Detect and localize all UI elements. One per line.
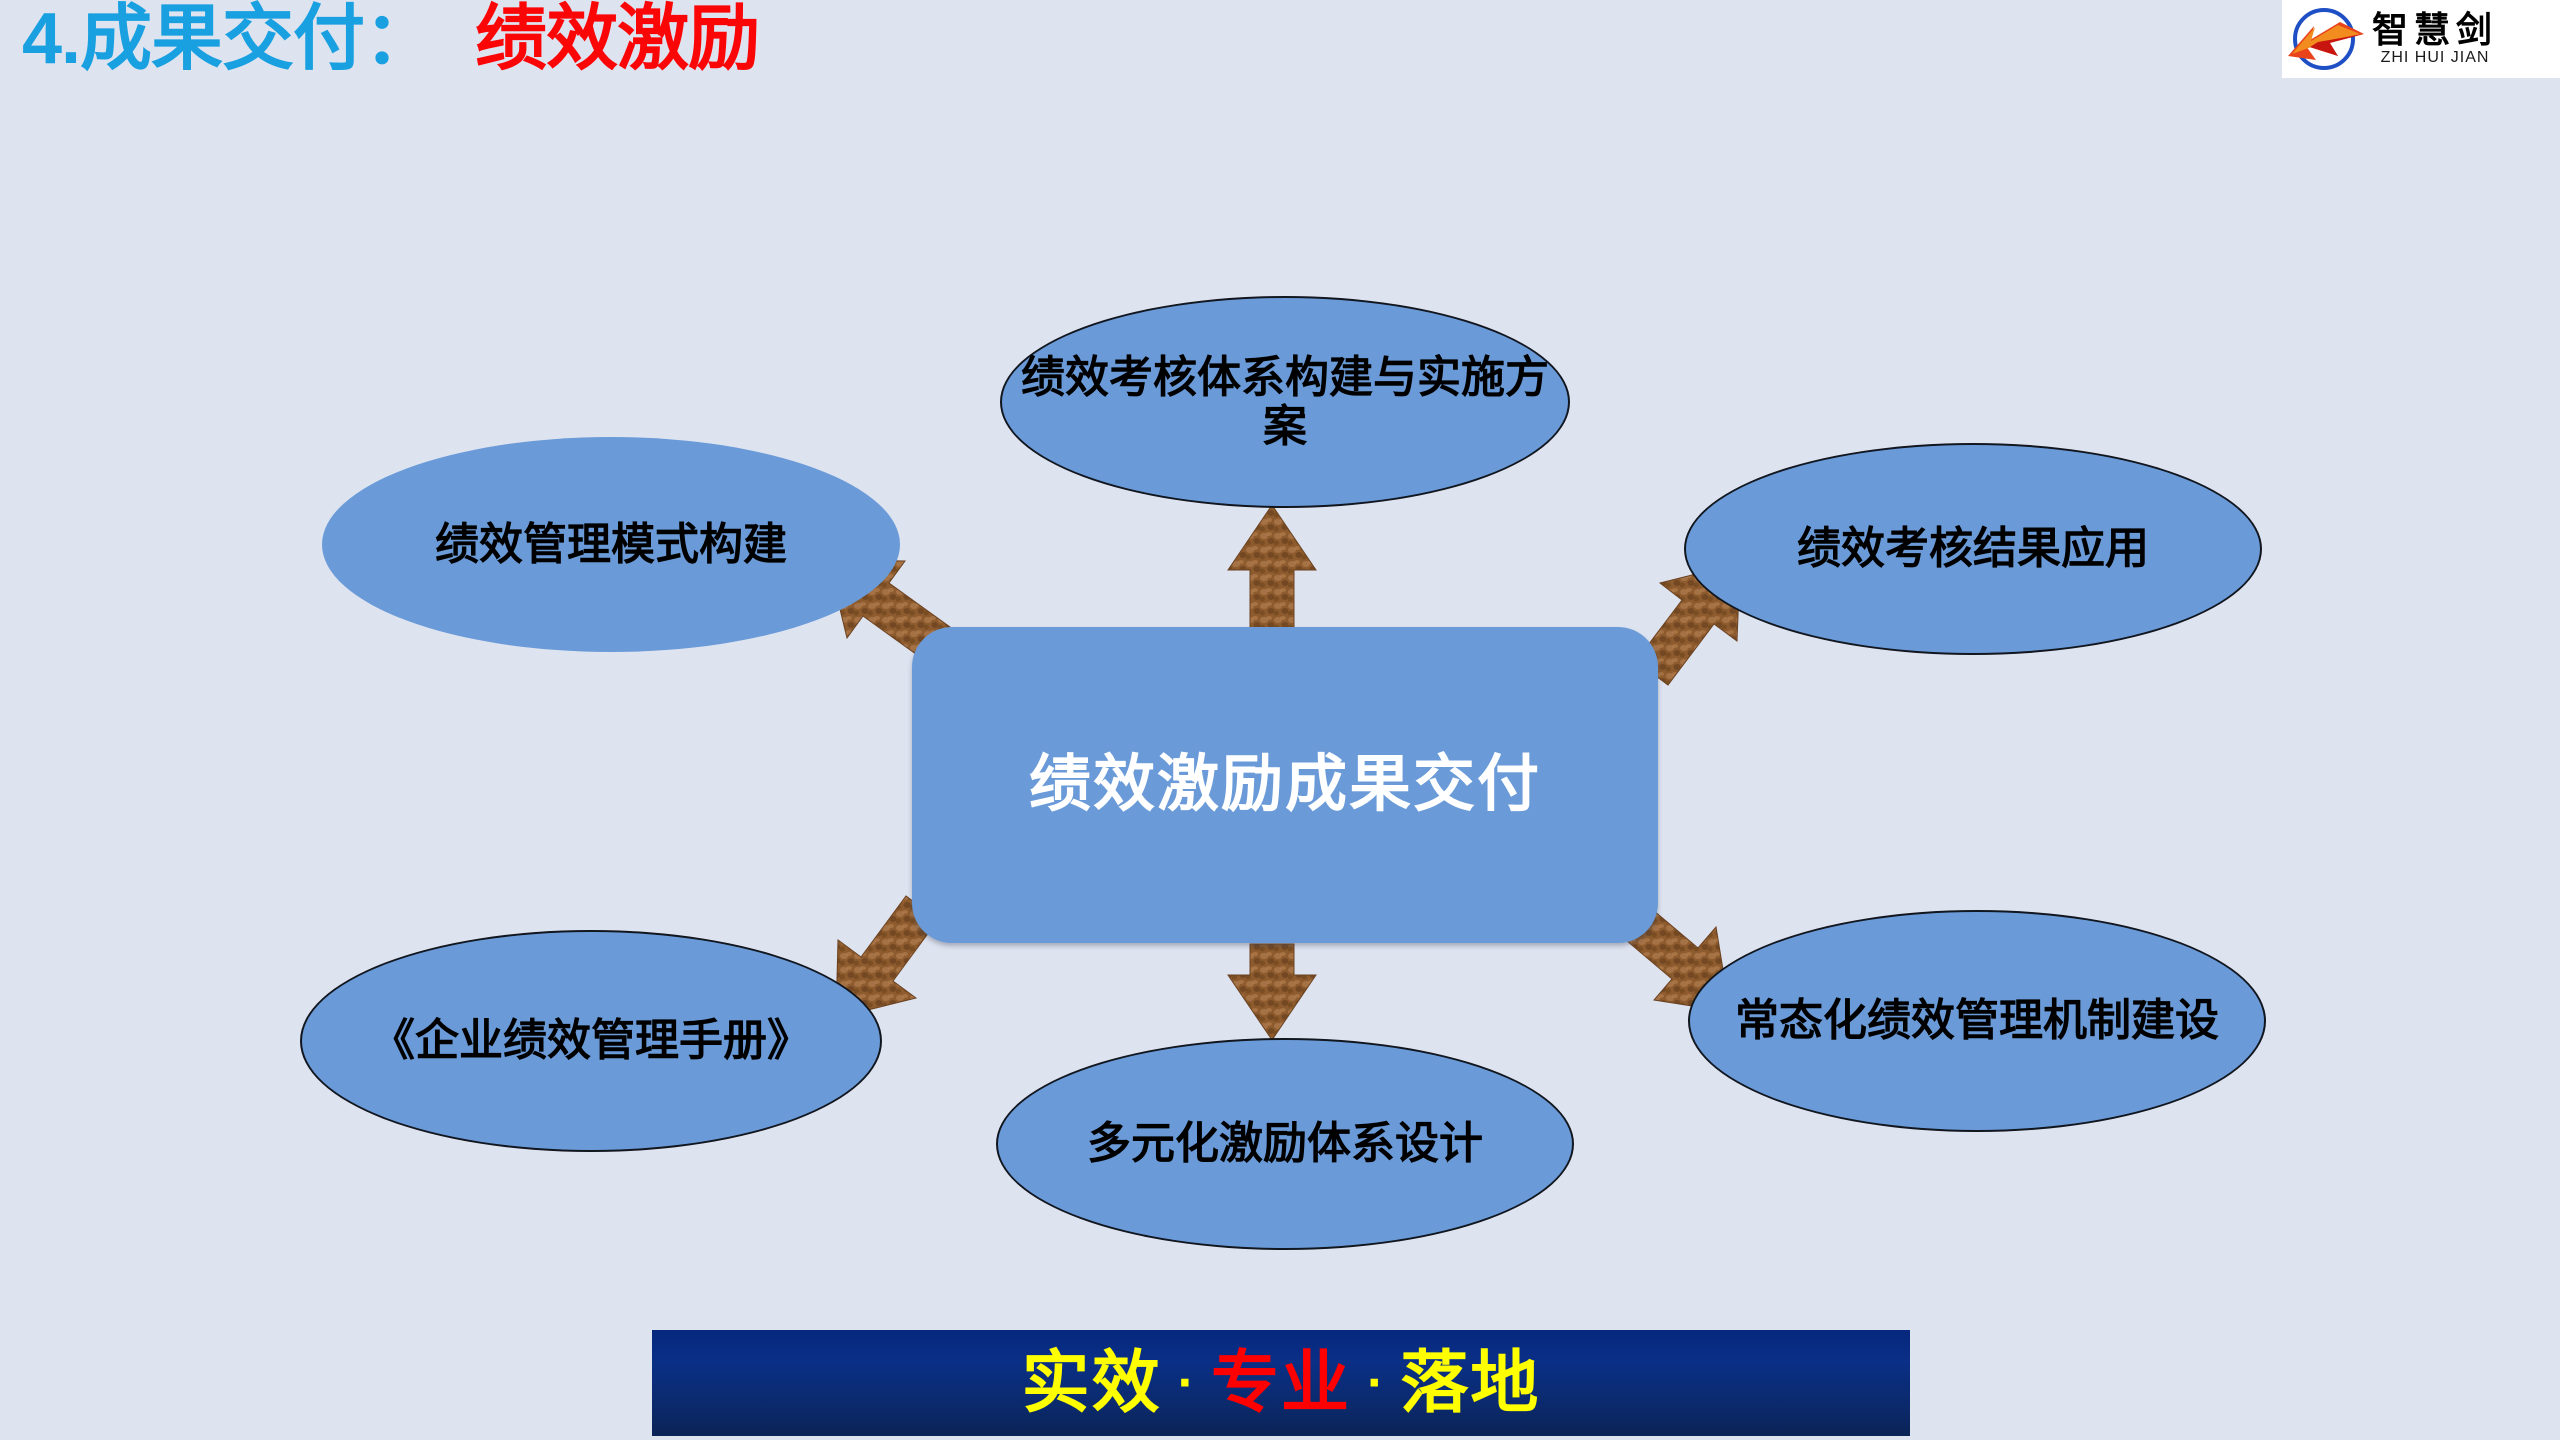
slogan-banner: 实效 · 专业 · 落地	[652, 1330, 1910, 1436]
logo-mark-icon	[2286, 2, 2364, 76]
node-top-label: 绩效考核体系构建与实施方案	[1002, 353, 1568, 452]
company-logo: 智慧剑 ZHI HUI JIAN	[2282, 0, 2560, 78]
node-left-top-label: 绩效管理模式构建	[421, 520, 801, 569]
node-bottom[interactable]: 多元化激励体系设计	[996, 1038, 1574, 1250]
node-right-top-label: 绩效考核结果应用	[1783, 524, 2163, 573]
node-right-bottom[interactable]: 常态化绩效管理机制建设	[1688, 910, 2266, 1132]
lightning-bolt-icon	[2288, 16, 2364, 64]
logo-name-cn: 智慧剑	[2372, 12, 2498, 48]
page-title: 4.成果交付： 绩效激励	[22, 2, 759, 78]
node-top[interactable]: 绩效考核体系构建与实施方案	[1000, 296, 1570, 508]
slogan-word-3: 落地	[1400, 1349, 1540, 1417]
slogan-word-2: 专业	[1211, 1349, 1351, 1417]
node-left-bottom-label: 《企业绩效管理手册》	[357, 1016, 825, 1065]
logo-name-en: ZHI HUI JIAN	[2372, 50, 2498, 66]
slogan-separator-1: ·	[1162, 1353, 1211, 1413]
title-prefix: 4.成果交付：	[22, 2, 435, 78]
node-left-bottom[interactable]: 《企业绩效管理手册》	[300, 930, 882, 1152]
title-highlight: 绩效激励	[475, 2, 759, 78]
node-right-top[interactable]: 绩效考核结果应用	[1684, 443, 2262, 655]
node-right-bottom-label: 常态化绩效管理机制建设	[1721, 996, 2233, 1045]
logo-text-block: 智慧剑 ZHI HUI JIAN	[2372, 12, 2498, 66]
slogan-word-1: 实效	[1022, 1349, 1162, 1417]
arrow-down-center-to-bottom	[1228, 944, 1316, 1040]
center-node-label: 绩效激励成果交付	[1029, 751, 1541, 819]
center-node[interactable]: 绩效激励成果交付	[912, 627, 1658, 943]
node-left-top[interactable]: 绩效管理模式构建	[322, 437, 900, 652]
slogan-separator-2: ·	[1351, 1353, 1400, 1413]
slide-canvas: 4.成果交付： 绩效激励 智慧剑 ZHI HUI JIAN	[0, 0, 2560, 1440]
node-bottom-label: 多元化激励体系设计	[1073, 1119, 1497, 1168]
arrow-up-center-to-top	[1228, 505, 1316, 635]
